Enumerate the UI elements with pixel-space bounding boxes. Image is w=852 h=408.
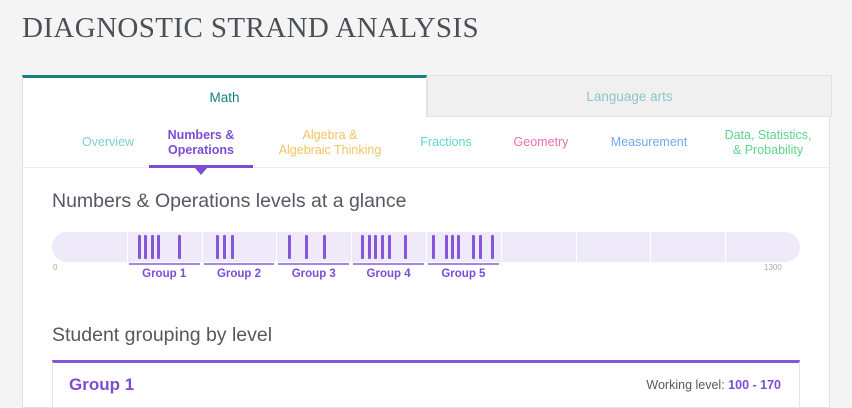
group-underline xyxy=(278,263,349,265)
strand-tab-label-line2: Operations xyxy=(168,143,234,158)
glance-heading: Numbers & Operations levels at a glance xyxy=(52,190,406,213)
tab-language-arts-label: Language arts xyxy=(586,89,672,104)
subject-tab-bar: Math Language arts xyxy=(22,75,832,117)
student-level-tick xyxy=(223,235,226,259)
student-level-tick xyxy=(404,235,407,259)
working-level-label: Working level: xyxy=(646,378,724,392)
student-level-tick xyxy=(288,235,291,259)
tab-math[interactable]: Math xyxy=(22,75,427,117)
student-level-tick xyxy=(178,235,181,259)
group-underline xyxy=(129,263,200,265)
student-level-tick xyxy=(231,235,234,259)
student-level-tick xyxy=(432,235,435,259)
bar-segment-divider xyxy=(501,232,502,262)
student-level-tick xyxy=(305,235,308,259)
student-level-tick xyxy=(472,235,475,259)
strand-tab-label-line2: Algebraic Thinking xyxy=(279,143,382,158)
page-title: DIAGNOSTIC STRAND ANALYSIS xyxy=(22,12,479,45)
chevron-down-icon xyxy=(195,168,207,175)
strand-tab-label-line1: Numbers & xyxy=(168,128,235,143)
group-label[interactable]: Group 3 xyxy=(276,268,351,280)
student-level-tick xyxy=(151,235,154,259)
student-level-tick xyxy=(451,235,454,259)
tab-language-arts[interactable]: Language arts xyxy=(427,75,832,117)
group-label[interactable]: Group 5 xyxy=(426,268,501,280)
strand-tab-geometry[interactable]: Geometry xyxy=(491,117,591,168)
group-label[interactable]: Group 4 xyxy=(351,268,426,280)
student-level-tick xyxy=(368,235,371,259)
working-level-value: 100 - 170 xyxy=(728,378,781,392)
levels-bar-track xyxy=(52,232,800,262)
axis-min-label: 0 xyxy=(53,263,57,272)
bar-segment-divider xyxy=(576,232,577,262)
bar-segment-divider xyxy=(351,232,352,262)
group-label[interactable]: Group 2 xyxy=(202,268,277,280)
student-level-tick xyxy=(323,235,326,259)
group-card-title: Group 1 xyxy=(69,375,134,395)
bar-segment-divider xyxy=(276,232,277,262)
group-card[interactable]: Group 1 Working level: 100 - 170 xyxy=(52,360,800,408)
strand-tab-bar: OverviewNumbers &OperationsAlgebra &Alge… xyxy=(23,117,829,168)
strand-tab-algebra[interactable]: Algebra &Algebraic Thinking xyxy=(256,117,404,168)
strand-tab-label: Overview xyxy=(82,135,134,150)
strand-tab-fractions[interactable]: Fractions xyxy=(405,117,487,168)
strand-tab-label-line2: & Probability xyxy=(733,143,803,158)
student-level-tick xyxy=(457,235,460,259)
group-label[interactable]: Group 1 xyxy=(127,268,202,280)
strand-tab-numbers[interactable]: Numbers &Operations xyxy=(149,117,253,168)
axis-max-label: 1300 xyxy=(764,263,782,272)
page-root: DIAGNOSTIC STRAND ANALYSIS Math Language… xyxy=(0,0,852,408)
bar-segment-divider xyxy=(650,232,651,262)
levels-strip-chart: Group 1Group 2Group 3Group 4Group 5 0 13… xyxy=(52,232,800,262)
student-level-tick xyxy=(374,235,377,259)
bar-segment-divider xyxy=(127,232,128,262)
strand-tab-overview[interactable]: Overview xyxy=(58,117,158,168)
student-level-tick xyxy=(144,235,147,259)
bar-segment-divider xyxy=(426,232,427,262)
student-level-tick xyxy=(491,235,494,259)
student-level-tick xyxy=(138,235,141,259)
bar-segment-divider xyxy=(202,232,203,262)
tab-math-label: Math xyxy=(209,90,239,105)
student-level-tick xyxy=(445,235,448,259)
strand-tab-label: Fractions xyxy=(420,135,471,150)
group-underline xyxy=(353,263,424,265)
group-underline xyxy=(204,263,275,265)
working-level: Working level: 100 - 170 xyxy=(646,378,781,392)
strand-tab-label-line1: Data, Statistics, xyxy=(725,128,812,143)
student-level-tick xyxy=(361,235,364,259)
grouping-heading: Student grouping by level xyxy=(52,324,272,347)
strand-tab-measurement[interactable]: Measurement xyxy=(593,117,705,168)
student-level-tick xyxy=(157,235,160,259)
strand-tab-label-line1: Algebra & xyxy=(303,128,358,143)
strand-tab-label: Geometry xyxy=(514,135,569,150)
student-level-tick xyxy=(216,235,219,259)
strand-tab-data-statistics[interactable]: Data, Statistics,& Probability xyxy=(707,117,829,168)
student-level-tick xyxy=(479,235,482,259)
bar-segment-divider xyxy=(725,232,726,262)
strand-tab-label: Measurement xyxy=(611,135,687,150)
student-level-tick xyxy=(381,235,384,259)
group-underline xyxy=(428,263,499,265)
student-level-tick xyxy=(388,235,391,259)
